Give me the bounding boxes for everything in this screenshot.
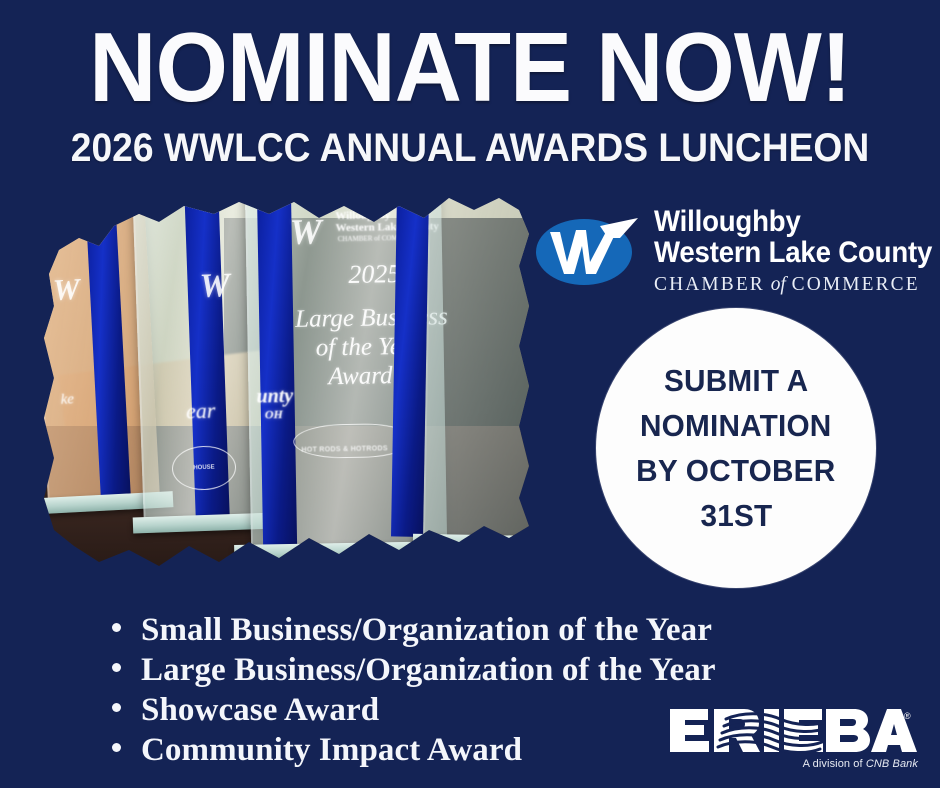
trophy-4-blue-bar bbox=[391, 193, 429, 537]
eriebank-tagline-cnb: CNB Bank bbox=[866, 758, 918, 770]
trophy-1-etched-text: ke bbox=[60, 391, 74, 409]
page-title: NOMINATE NOW! bbox=[24, 18, 917, 116]
list-item: Small Business/Organization of the Year bbox=[112, 610, 852, 650]
chamber-logo-text: Willoughby Western Lake County CHAMBERof… bbox=[654, 206, 940, 296]
trophy-4 bbox=[423, 192, 547, 539]
deadline-badge-line-3: BY OCTOBER bbox=[636, 448, 835, 493]
deadline-badge-line-1: SUBMIT A bbox=[664, 358, 808, 403]
trophy-2-sponsor-label: HOUSE bbox=[193, 465, 215, 472]
trophy-3-title-line3: Award bbox=[328, 361, 393, 392]
page-subtitle: 2026 WWLCC ANNUAL AWARDS LUNCHEON bbox=[33, 128, 907, 168]
trophy-1-blue-bar bbox=[85, 199, 131, 498]
deadline-badge-line-4: 31ST bbox=[700, 493, 772, 538]
eriebank-registered-mark: ® bbox=[904, 711, 911, 721]
award-category-label: Community Impact Award bbox=[141, 730, 522, 770]
eriebank-tagline: A division of CNB Bank bbox=[668, 758, 918, 770]
trophy-1-watermark: W bbox=[52, 273, 80, 308]
deadline-badge-line-2: NOMINATION bbox=[640, 403, 831, 448]
chamber-logo: Willoughby Western Lake County CHAMBERof… bbox=[534, 206, 930, 306]
chamber-logo-line3: CHAMBERofCOMMERCE bbox=[654, 273, 940, 296]
trophy-3-chamber-line1: Willoughby bbox=[335, 209, 390, 223]
awards-photo-image: W ke W ear HOUSE W Willoughby Western La… bbox=[34, 186, 534, 586]
award-category-label: Showcase Award bbox=[141, 690, 379, 730]
trophy-3-year: 2025 bbox=[348, 259, 401, 291]
chamber-logo-line2: Western Lake County bbox=[654, 237, 932, 268]
bullet-icon bbox=[112, 743, 121, 752]
chamber-logo-line3-part1: CHAMBER bbox=[654, 273, 765, 295]
trophy-3-watermark: W bbox=[289, 210, 322, 253]
flyer-canvas: NOMINATE NOW! 2026 WWLCC ANNUAL AWARDS L… bbox=[0, 0, 940, 788]
chamber-logo-line3-of: of bbox=[765, 273, 792, 295]
eriebank-wordmark-icon: ® bbox=[668, 703, 918, 757]
awards-photo: W ke W ear HOUSE W Willoughby Western La… bbox=[34, 186, 534, 586]
list-item: Large Business/Organization of the Year bbox=[112, 650, 852, 690]
chamber-logo-line1: Willoughby bbox=[654, 206, 932, 237]
deadline-badge: SUBMIT A NOMINATION BY OCTOBER 31ST bbox=[596, 308, 876, 588]
award-category-label: Large Business/Organization of the Year bbox=[141, 650, 716, 690]
chamber-logo-w-icon bbox=[534, 212, 646, 288]
sponsor-logo-eriebank: ® A division of CNB Bank bbox=[668, 703, 918, 770]
bullet-icon bbox=[112, 703, 121, 712]
bullet-icon bbox=[112, 663, 121, 672]
chamber-logo-line3-part2: COMMERCE bbox=[792, 273, 920, 295]
trophy-2-watermark: W bbox=[199, 267, 231, 306]
trophy-3-sponsor-label: HOT RODS & HOTRODS bbox=[301, 445, 387, 454]
award-category-label: Small Business/Organization of the Year bbox=[141, 610, 712, 650]
trophy-4-base bbox=[413, 534, 555, 552]
bullet-icon bbox=[112, 623, 121, 632]
trophy-3-base bbox=[234, 541, 471, 561]
eriebank-tagline-prefix: A division of bbox=[803, 758, 866, 770]
